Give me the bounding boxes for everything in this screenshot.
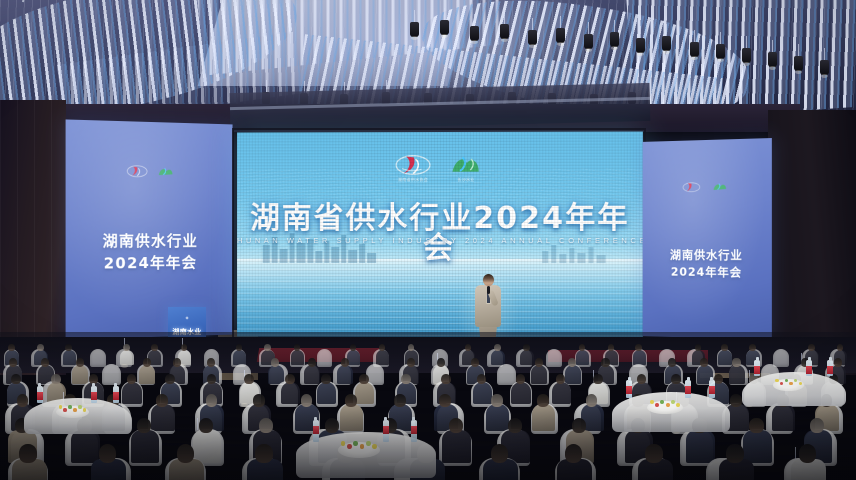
audience-person-body (486, 404, 509, 431)
audience-person-body (718, 350, 732, 366)
audience-person-head (601, 358, 609, 367)
fruit-piece (372, 444, 377, 449)
audience-chair (773, 349, 789, 367)
audience-person-head (325, 418, 339, 433)
audience-person-body (686, 430, 715, 463)
presenter-head (483, 274, 494, 286)
fruit-piece (666, 403, 670, 407)
audience-person-body (139, 365, 155, 384)
audience-chair (546, 349, 562, 367)
fruit-piece (366, 441, 371, 446)
water-bottle (827, 360, 833, 376)
audience-person-head (508, 418, 522, 433)
sponsor-logo: 长沙水业 (447, 154, 485, 176)
led-screen-logos: 湖南省供水协会 长沙水业 (237, 154, 643, 177)
audience-person-head (749, 418, 763, 433)
audience-person-body (120, 350, 134, 366)
banner-left-title: 湖南供水行业 2024年年会 (66, 230, 233, 276)
audience-person-head (714, 374, 724, 384)
audience-person-body (376, 350, 390, 366)
audience-person-head (123, 344, 130, 351)
audience-person-head (671, 374, 681, 384)
audience-person-head (244, 374, 254, 384)
audience-person-head (700, 358, 708, 367)
audience-person-head (572, 418, 586, 433)
audience-person-head (11, 374, 21, 384)
fruit-piece (360, 444, 365, 449)
audience-person-head (441, 374, 451, 384)
stage-light-fixture (794, 56, 803, 71)
fruit-piece (650, 400, 654, 404)
banner-right-title-line1: 湖南供水行业 (643, 247, 772, 265)
audience-person-head (491, 444, 509, 463)
audience-person-head (565, 444, 583, 463)
audience-person-head (341, 358, 349, 367)
water-bottle (626, 380, 632, 398)
audience-person-body (491, 350, 505, 366)
audience-person-body (268, 365, 284, 384)
audience-person-head (301, 394, 313, 407)
fruit-piece (68, 405, 72, 409)
water-bottle (411, 420, 417, 442)
audience-person-head (321, 374, 331, 384)
audience-person-head (726, 444, 744, 463)
hunan-water-association-logo (126, 165, 148, 178)
audience-person-head (810, 418, 824, 433)
audience-person-body (340, 404, 363, 431)
stage-light-fixture (636, 38, 645, 53)
audience-person-head (721, 344, 728, 351)
audience-person-head (668, 358, 676, 367)
stage-light-fixture (410, 22, 419, 37)
fruit-piece (59, 405, 63, 409)
audience-person-head (127, 374, 137, 384)
stage-banner-right: 湖南供水行业 2024年年会 (643, 138, 772, 340)
hunan-water-association-logo-caption: 湖南省供水协会 (393, 177, 433, 183)
stage-light-fixture (584, 34, 593, 49)
stage-light-fixture (768, 52, 777, 67)
sponsor-logo (710, 179, 731, 192)
audience-person-body (63, 350, 77, 366)
stage-light-fixture (716, 44, 725, 59)
audience-person-head (165, 374, 175, 384)
fruit-piece (63, 408, 67, 412)
audience-person-body (552, 382, 571, 404)
audience-person-head (9, 358, 17, 367)
banner-right-title: 湖南供水行业 2024年年会 (643, 247, 772, 282)
audience-person-head (394, 394, 406, 407)
sponsor-logo (155, 165, 175, 178)
banner-left-logos (66, 163, 233, 179)
audience-person-head (99, 444, 117, 463)
audience-person-head (730, 394, 742, 407)
audience-person-head (437, 358, 445, 367)
stage-light-fixture (470, 26, 479, 41)
water-bottle (754, 360, 760, 376)
audience-person-body (473, 382, 492, 404)
fruit-piece (655, 403, 659, 407)
audience-person-head (156, 394, 168, 407)
water-bottle (709, 380, 715, 398)
audience-person-head (285, 374, 295, 384)
banner-right-logos (643, 178, 772, 193)
audience-person-head (799, 444, 817, 463)
audience-person-head (516, 374, 526, 384)
stage-light-fixture (610, 32, 619, 47)
audience-person-head (17, 394, 29, 407)
fruit-piece (775, 379, 778, 382)
audience-person-body (565, 365, 581, 384)
main-led-screen: 湖南省供水协会 长沙水业 湖南省供水行业2024年年会 HUNAN WATER … (237, 132, 643, 338)
audience-person-body (633, 350, 647, 366)
audience-person-head (537, 394, 549, 407)
stage-light-fixture (528, 30, 537, 45)
audience-person-body (291, 350, 305, 366)
audience-person-head (535, 358, 543, 367)
audience-person-head (143, 358, 151, 367)
sponsor-logo-caption: 长沙水业 (447, 177, 485, 183)
audience-person-body (131, 430, 160, 463)
audience-person-body (337, 365, 353, 384)
led-screen-subtitle: HUNAN WATER SUPPLY INDUSTRY 2024 ANNUAL … (237, 236, 643, 245)
stage-light-fixture (556, 28, 565, 43)
audience-person-head (732, 358, 740, 367)
fruit-piece (789, 382, 792, 385)
banner-left-title-line1: 湖南供水行业 (66, 230, 233, 253)
audience-person-head (834, 358, 842, 367)
audience-person-body (520, 350, 534, 366)
audience-person-head (206, 394, 218, 407)
banner-right-title-line2: 2024年年会 (643, 264, 772, 283)
audience-person-head (808, 344, 815, 351)
handheld-microphone (487, 286, 490, 294)
audience-person-head (19, 444, 37, 463)
audience-person-head (41, 358, 49, 367)
audience-person-head (359, 374, 369, 384)
audience-person-head (439, 394, 451, 407)
audience-chair (317, 349, 333, 367)
audience-person-body (729, 365, 745, 384)
audience-person-head (593, 374, 603, 384)
truss-bar (230, 97, 650, 110)
audience-person-head (271, 358, 279, 367)
audience-person-head (255, 444, 273, 463)
audience-person-head (137, 418, 151, 433)
audience-person-head (51, 374, 61, 384)
fruit-piece (353, 441, 358, 446)
water-bottle (685, 380, 691, 398)
stage-banner-left: 湖南供水行业 2024年年会 (66, 119, 233, 339)
stage-light-fixture (820, 60, 829, 75)
stage-light-fixture (662, 36, 671, 51)
water-bottle (91, 386, 97, 403)
audience-chair (102, 364, 121, 385)
water-bottle (383, 420, 389, 442)
stage-light-fixture (742, 48, 751, 63)
audience-person-head (471, 358, 479, 367)
audience-person-head (253, 394, 265, 407)
audience-person-body (304, 365, 320, 384)
audience-person-body (233, 350, 247, 366)
audience-person-body (355, 382, 374, 404)
banner-left-title-line2: 2024年年会 (66, 251, 233, 275)
led-screen-title: 湖南省供水行业2024年年会 (237, 204, 643, 264)
stage-light-fixture (690, 42, 699, 57)
audience-person-head (568, 358, 576, 367)
audience-person-head (345, 394, 357, 407)
audience-person-head (264, 344, 271, 351)
audience-person-head (749, 344, 756, 351)
audience-person-head (407, 358, 415, 367)
audience-person-body (281, 382, 300, 404)
water-bottle (113, 386, 119, 403)
audience-person-head (8, 344, 15, 351)
audience-person-body (72, 365, 88, 384)
fruit-piece (671, 400, 675, 404)
audience-person-head (401, 374, 411, 384)
audience-person-head (308, 358, 316, 367)
audience-person-body (511, 382, 530, 404)
fruit-piece (347, 444, 352, 449)
audience-person-head (151, 344, 158, 351)
audience-person-head (645, 444, 663, 463)
audience-person-body (576, 350, 590, 366)
hunan-water-association-logo (681, 180, 702, 193)
audience-person-head (37, 344, 44, 351)
audience-chair (90, 349, 106, 367)
audience-person-head (523, 344, 530, 351)
audience-person-head (199, 418, 213, 433)
water-bottle (37, 386, 43, 403)
audience-person-body (442, 430, 471, 463)
audience-person-head (177, 444, 195, 463)
stage-light-fixture (440, 20, 449, 35)
audience-person-body (743, 430, 772, 463)
audience-person-body (317, 382, 336, 404)
audience-person-body (122, 382, 141, 404)
seated-audience (0, 332, 856, 480)
conference-hall-photo: 湖南供水行业 2024年年会 (0, 0, 856, 480)
water-bottle (806, 360, 812, 376)
audience-chair (497, 364, 516, 385)
hunan-water-association-logo: 湖南省供水协会 (393, 154, 433, 176)
led-water-graphic (237, 263, 643, 337)
audience-person-head (586, 394, 598, 407)
audience-person-body (772, 404, 795, 431)
audience-person-head (76, 358, 84, 367)
audience-person-body (71, 430, 100, 463)
audience-person-body (532, 404, 555, 431)
fruit-piece (73, 408, 77, 412)
audience-person-body (531, 365, 547, 384)
podium-logo-mark: ◈ (168, 315, 206, 320)
audience-person-body (151, 404, 174, 431)
audience-person-head (207, 358, 215, 367)
audience-person-head (449, 418, 463, 433)
audience-person-head (173, 358, 181, 367)
audience-person-head (491, 394, 503, 407)
water-bottle (313, 420, 319, 442)
fruit-piece (78, 405, 82, 409)
stage-light-fixture (500, 24, 509, 39)
